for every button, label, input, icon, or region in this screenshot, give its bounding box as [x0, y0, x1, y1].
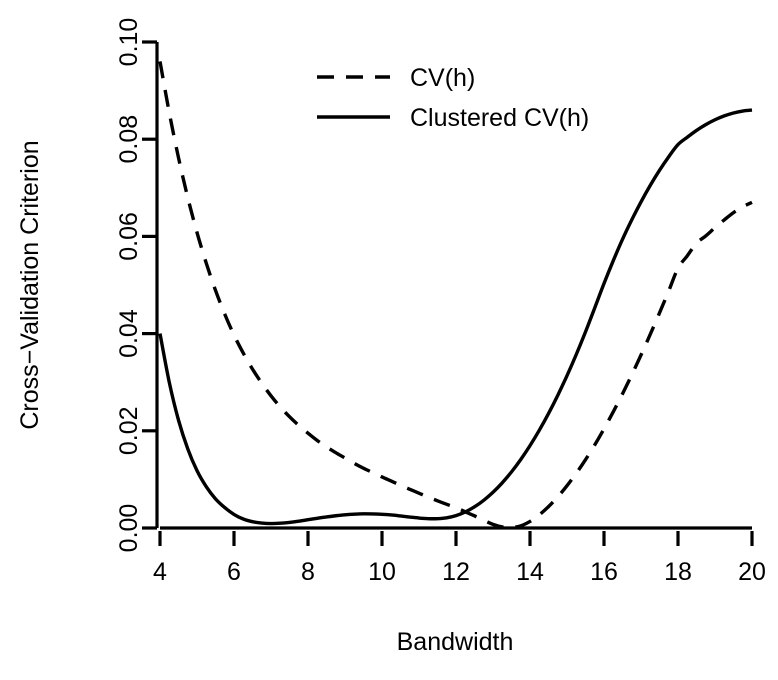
chart-legend: CV(h) Clustered CV(h)	[317, 64, 589, 132]
cross-validation-criterion-chart: 0.000.020.040.060.080.10 468101214161820…	[0, 0, 778, 680]
legend-label-cv: CV(h)	[410, 64, 475, 92]
x-axis-tick-label: 16	[590, 558, 618, 586]
y-axis-tick-label: 0.10	[115, 18, 143, 67]
x-axis-tick-label: 4	[153, 558, 167, 586]
x-axis-tick-labels: 468101214161820	[153, 558, 766, 586]
legend-label-clustered-cv: Clustered CV(h)	[410, 104, 589, 132]
y-axis-tick-label: 0.08	[115, 115, 143, 164]
x-axis-tick-label: 10	[368, 558, 396, 586]
x-axis-tick-label: 18	[664, 558, 692, 586]
y-axis-tick-label: 0.00	[115, 504, 143, 553]
x-axis-tick-label: 8	[301, 558, 315, 586]
y-axis-tick-label: 0.02	[115, 406, 143, 455]
x-axis-tick-label: 14	[516, 558, 544, 586]
x-axis-tick-label: 20	[738, 558, 766, 586]
y-axis-tick-label: 0.06	[115, 212, 143, 261]
chart-container: 0.000.020.040.060.080.10 468101214161820…	[0, 0, 778, 680]
x-axis-title: Bandwidth	[397, 628, 514, 656]
legend-entry-cv: CV(h)	[317, 64, 475, 92]
y-axis-tick-labels: 0.000.020.040.060.080.10	[115, 18, 143, 553]
series-line-clustered-cv-h	[160, 110, 752, 523]
y-axis-tick-label: 0.04	[115, 309, 143, 358]
x-axis-tick-label: 6	[227, 558, 241, 586]
legend-entry-clustered-cv: Clustered CV(h)	[317, 104, 589, 132]
x-axis-ticks	[160, 531, 752, 546]
y-axis-ticks	[142, 42, 157, 528]
x-axis-tick-label: 12	[442, 558, 470, 586]
y-axis-title: Cross−Validation Criterion	[16, 140, 44, 429]
